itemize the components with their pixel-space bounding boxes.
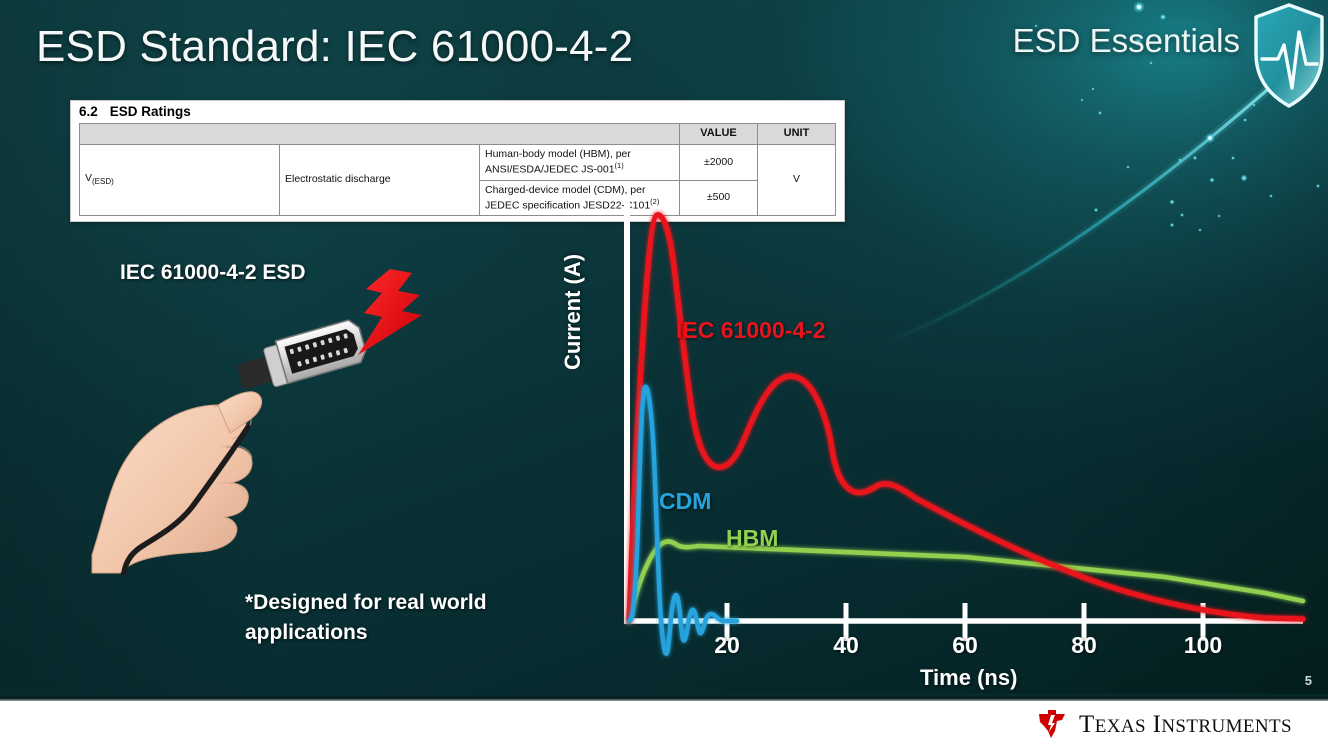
series-label-iec: IEC 61000-4-2 <box>676 317 826 344</box>
design-note: *Designed for real world applications <box>245 588 545 649</box>
brand-label: ESD Essentials <box>1013 22 1240 60</box>
ti-word-exas: EXAS <box>1095 716 1146 737</box>
x-tick-label-100: 100 <box>1184 632 1222 659</box>
x-tick-label-80: 80 <box>1071 632 1097 659</box>
series-iec-curve <box>629 215 1303 621</box>
shield-heartbeat-icon <box>1250 2 1328 110</box>
table-header-row: VALUE UNIT <box>80 124 836 145</box>
esd-spark-bolt <box>358 269 422 355</box>
chart-x-axis-label: Time (ns) <box>920 665 1017 691</box>
x-tick-label-20: 20 <box>714 632 740 659</box>
ti-texas-mark-icon <box>1035 709 1069 740</box>
table-caption-number: 6.2 <box>79 104 98 119</box>
parameter-cell: Electrostatic discharge <box>280 144 480 216</box>
texas-instruments-logo: TEXAS INSTRUMENTS <box>1035 709 1292 740</box>
value-cell-hbm: ±2000 <box>680 144 758 180</box>
table-caption-title: ESD Ratings <box>110 104 191 119</box>
hand-holding-hdmi-connector-icon <box>90 255 440 575</box>
x-tick-label-60: 60 <box>952 632 978 659</box>
ti-word-i: I <box>1153 711 1162 738</box>
series-label-cdm: CDM <box>659 488 711 515</box>
esd-waveform-chart <box>565 195 1310 695</box>
footnote-hbm: (1) <box>615 161 624 170</box>
symbol-cell: V(ESD) <box>80 144 280 216</box>
description-cell-hbm: Human-body model (HBM), per ANSI/ESDA/JE… <box>480 144 680 180</box>
ti-wordmark: TEXAS INSTRUMENTS <box>1079 711 1292 739</box>
header-blank <box>80 124 680 145</box>
header-value: VALUE <box>680 124 758 145</box>
x-tick-label-40: 40 <box>833 632 859 659</box>
ti-word-nstruments: NSTRUMENTS <box>1161 716 1292 737</box>
symbol-subscript: (ESD) <box>92 178 114 187</box>
brand-lockup: ESD Essentials <box>1013 22 1240 60</box>
slide-root: ESD Standard: IEC 61000-4-2 ESD Essentia… <box>0 0 1328 746</box>
chart-axes <box>624 199 1303 641</box>
symbol-text: V <box>85 172 92 184</box>
table-row: V(ESD) Electrostatic discharge Human-bod… <box>80 144 836 180</box>
ti-word-t: T <box>1079 711 1095 738</box>
slide-footer: TEXAS INSTRUMENTS <box>0 701 1328 746</box>
table-caption: 6.2ESD Ratings <box>71 101 844 123</box>
page-title: ESD Standard: IEC 61000-4-2 <box>36 22 633 72</box>
description-hbm: Human-body model (HBM), per ANSI/ESDA/JE… <box>485 148 631 176</box>
series-label-hbm: HBM <box>726 525 778 552</box>
slide-bottom-edge <box>0 694 1328 701</box>
page-number: 5 <box>1305 673 1312 688</box>
series-cdm-curve <box>629 387 737 654</box>
header-unit: UNIT <box>758 124 836 145</box>
